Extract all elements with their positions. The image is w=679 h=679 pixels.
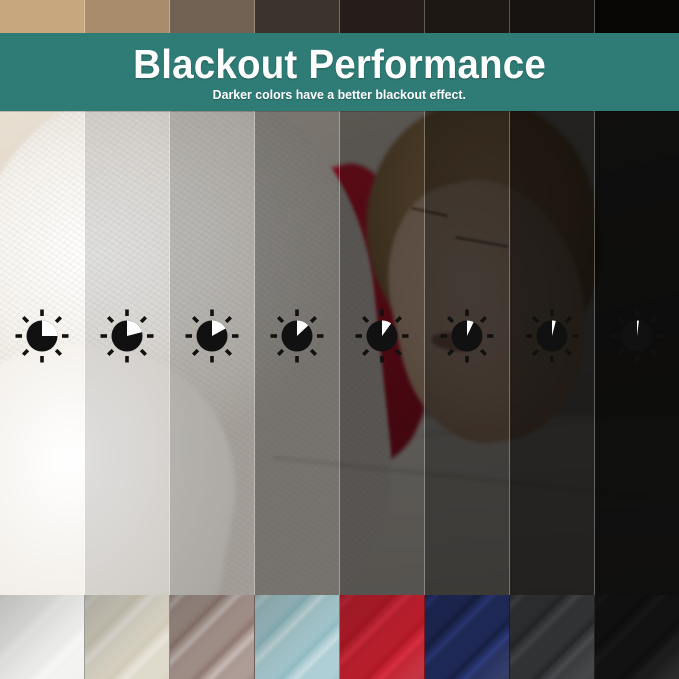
fabric-shading [595,595,679,679]
brightness-indicator-cell-2 [85,295,170,377]
top-color-chip-strip [0,0,679,34]
fabric-shading [85,595,170,679]
color-chip-taupe [170,0,255,34]
brightness-indicator-cell-6 [424,295,509,377]
brightness-indicator-cell-3 [170,295,255,377]
brightness-indicator-row [0,295,679,377]
sun-brightness-icon [183,307,241,365]
color-chip-aqua [255,0,340,34]
color-chip-white [0,0,85,34]
brightness-indicator-cell-5 [340,295,425,377]
color-chip-charcoal [510,0,595,34]
fabric-swatch-charcoal[interactable] [510,595,595,679]
fabric-shading [255,595,340,679]
brightness-indicator-cell-1 [0,295,85,377]
fabric-swatch-white[interactable] [0,595,85,679]
brightness-indicator-cell-4 [255,295,340,377]
fabric-shading [170,595,255,679]
fabric-shading [340,595,425,679]
color-chip-navy [425,0,510,34]
fabric-shading [425,595,510,679]
page-title: Blackout Performance [133,44,546,85]
fabric-swatch-red[interactable] [340,595,425,679]
sun-brightness-icon [608,307,666,365]
sun-brightness-icon [98,307,156,365]
fabric-swatch-strip [0,595,679,679]
color-chip-ivory [85,0,170,34]
fabric-swatch-navy[interactable] [425,595,510,679]
sun-brightness-icon [268,307,326,365]
page-subtitle: Darker colors have a better blackout eff… [213,88,466,101]
fabric-swatch-ivory[interactable] [85,595,170,679]
color-chip-red [340,0,425,34]
sun-brightness-icon [353,307,411,365]
fabric-swatch-taupe[interactable] [170,595,255,679]
sun-brightness-icon [523,307,581,365]
sun-brightness-icon [13,307,71,365]
sun-brightness-icon [438,307,496,365]
brightness-indicator-cell-7 [509,295,594,377]
fabric-shading [0,595,85,679]
fabric-swatch-black[interactable] [595,595,679,679]
fabric-shading [510,595,595,679]
blackout-performance-infographic: Blackout Performance Darker colors have … [0,0,679,679]
brightness-indicator-cell-8 [594,295,679,377]
header-banner: Blackout Performance Darker colors have … [0,33,679,111]
fabric-swatch-aqua[interactable] [255,595,340,679]
color-chip-black [595,0,679,34]
